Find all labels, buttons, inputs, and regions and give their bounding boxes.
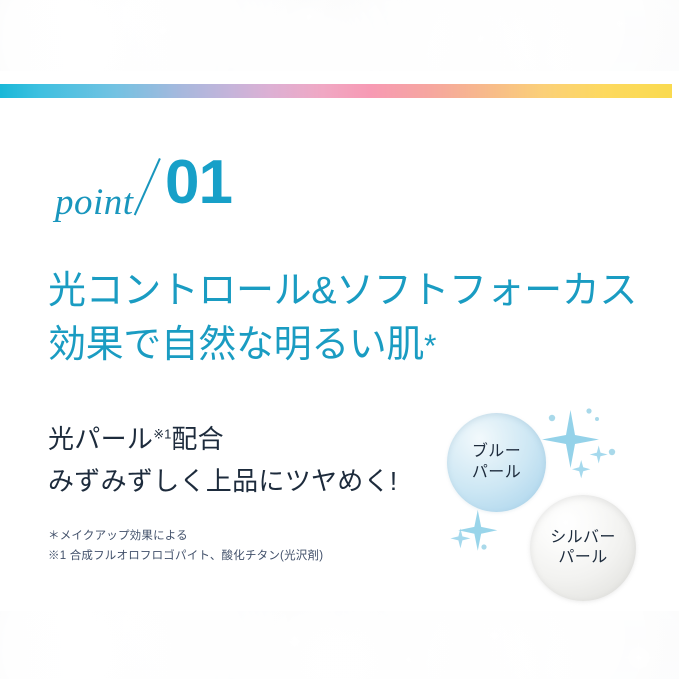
lead-line-1-pre: 光パール [48,424,153,454]
point-slash-decoration [134,158,161,216]
footnote-1: ＊メイクアップ効果による [48,527,323,547]
sparkle-icon [480,621,510,651]
lead-line-1-post: 配合 [171,424,224,454]
sparkle-icon [150,18,176,44]
lead-line-1-footnote-ref: ※1 [153,426,171,441]
headline-line-1: 光コントロール&ソフトフォーカス [48,265,648,319]
point-number: 01 [165,152,232,214]
footnote-2: ※1 合成フルオロフロゴパイト、酸化チタン(光沢剤) [48,547,323,567]
page-title: 光コントロール&ソフトフォーカス 効果で自然な明るい肌* [48,265,648,373]
blue-pearl-label-line-1: ブルー [472,442,521,462]
footnotes: ＊メイクアップ効果による ※1 合成フルオロフロゴパイト、酸化チタン(光沢剤) [48,527,323,567]
sparkle-icon [300,8,318,26]
silver-pearl-label: シルバー パール [550,528,616,568]
blue-pearl-label-line-2: パール [472,463,521,483]
headline-line-2: 効果で自然な明るい肌* [48,319,648,373]
lead-copy: 光パール※1配合 みずみずしく上品にツヤめく! [48,418,397,502]
sparkle-icon [610,14,630,34]
lead-line-1: 光パール※1配合 [48,418,397,460]
bottom-bokeh-band [0,611,679,679]
sparkle-icon [618,637,660,679]
rainbow-gradient-rule [0,84,672,98]
silver-pearl: シルバー パール [530,495,636,601]
top-bokeh-band [0,0,679,71]
silver-pearl-label-line-1: シルバー [550,528,616,548]
headline-asterisk: * [424,328,436,364]
blue-pearl-label: ブルー パール [472,442,521,482]
sparkle-icon [96,633,120,657]
sparkle-icon [400,651,418,669]
headline-line-2-text: 効果で自然な明るい肌 [48,324,424,366]
sparkle-icon [278,625,312,659]
sparkle-icon [470,28,492,50]
lead-line-2: みずみずしく上品にツヤめく! [48,460,397,502]
blue-pearl: ブルー パール [447,413,546,512]
silver-pearl-label-line-2: パール [550,548,616,568]
promo-panel: point 01 光コントロール&ソフトフォーカス 効果で自然な明るい肌* 光パ… [0,0,679,679]
point-word: point [55,181,134,224]
